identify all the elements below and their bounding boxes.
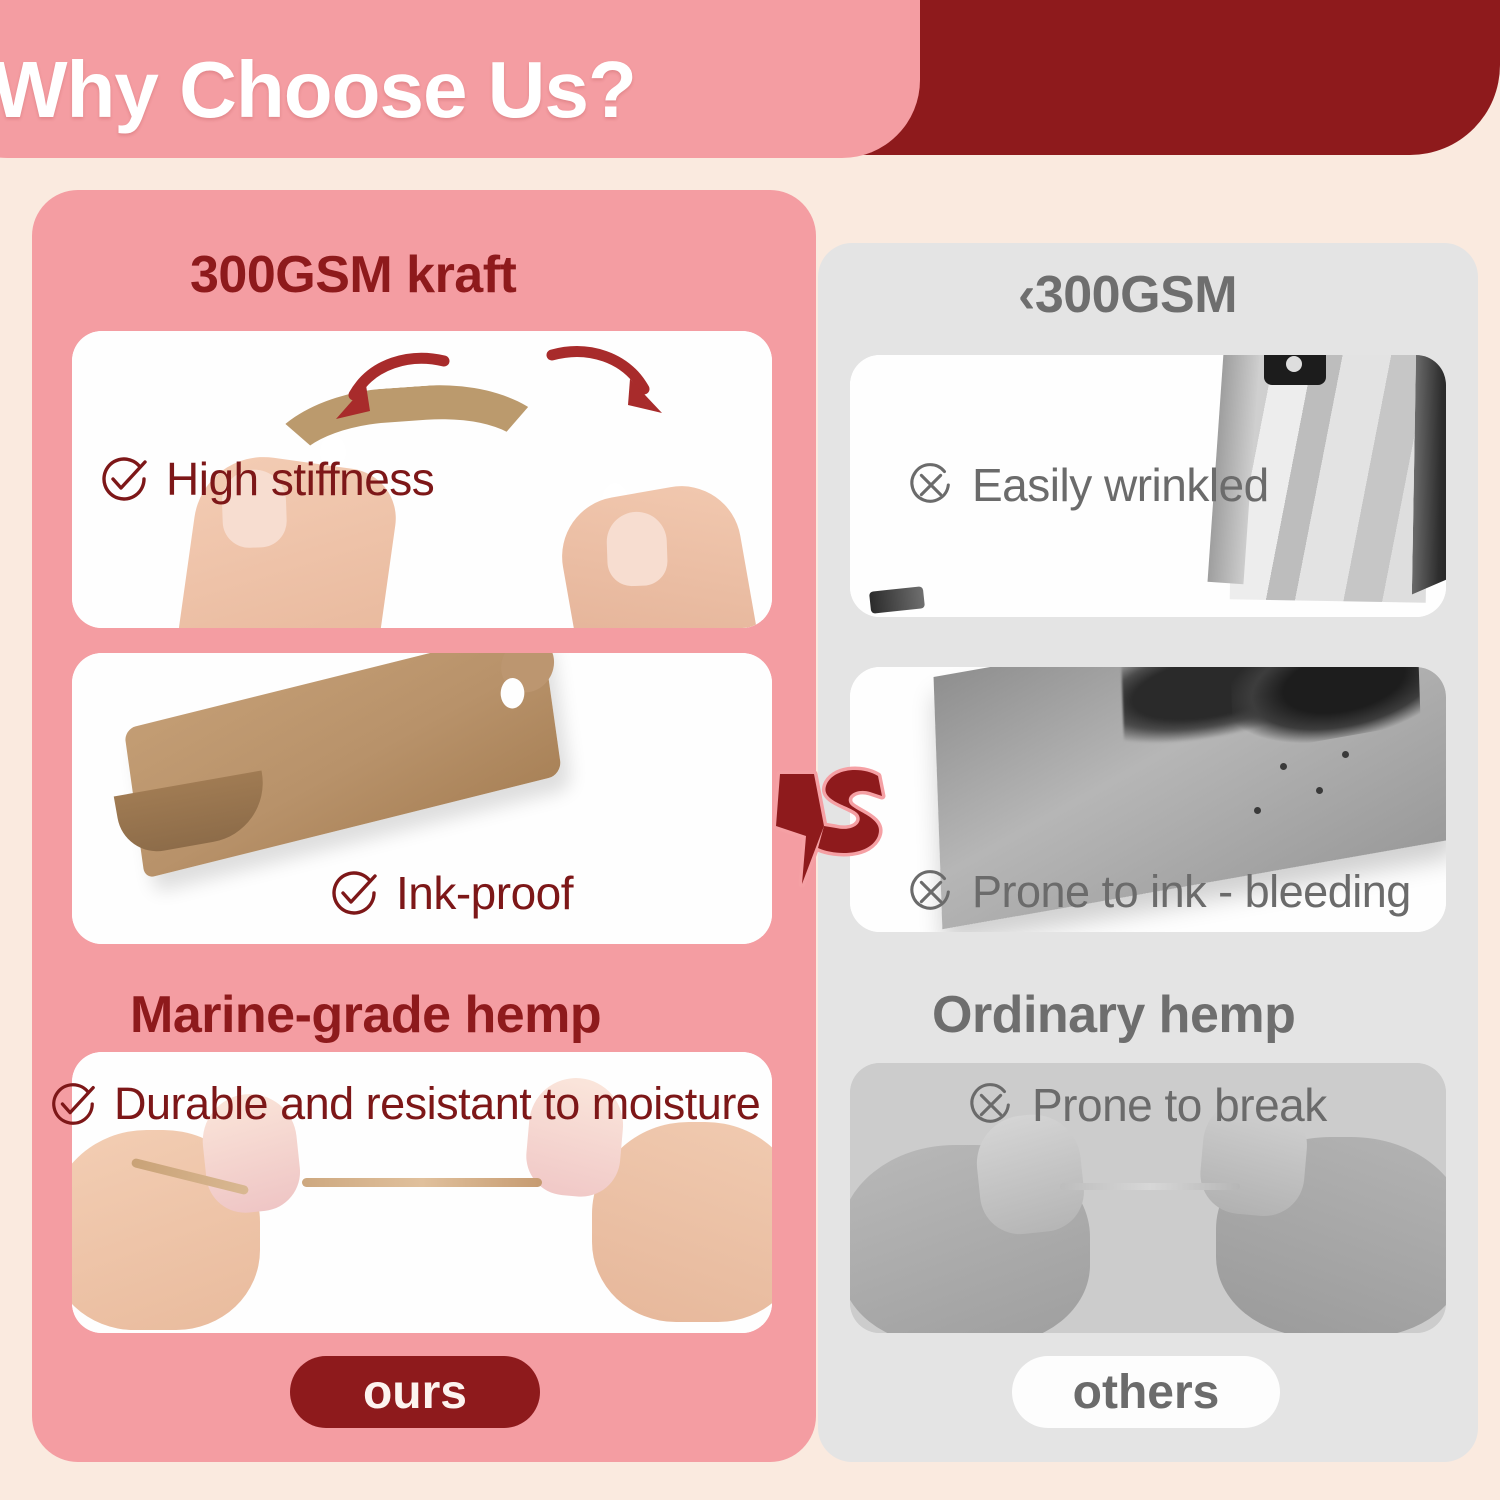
feature-high-stiffness: High stiffness (98, 452, 434, 506)
feature-ink-bleeding: Prone to ink - bleeding (906, 866, 1411, 918)
x-circle-icon (906, 867, 956, 917)
badge-ours: ours (290, 1356, 540, 1428)
feature-ink-proof: Ink-proof (328, 866, 573, 920)
infographic-root: Why Choose Us? 300GSM kraft (0, 0, 1500, 1500)
arrow-right-icon (544, 335, 674, 425)
arrow-left-icon (324, 345, 454, 435)
heading-marine-grade-hemp: Marine-grade hemp (130, 985, 601, 1045)
heading-300gsm-kraft: 300GSM kraft (190, 245, 516, 305)
feature-label: High stiffness (166, 452, 434, 506)
check-circle-icon (98, 453, 150, 505)
check-circle-icon (48, 1079, 98, 1129)
feature-label: Prone to ink - bleeding (972, 866, 1411, 918)
heading-ordinary-hemp: Ordinary hemp (932, 985, 1295, 1045)
page-title: Why Choose Us? (0, 44, 636, 158)
feature-durable-moisture: Durable and resistant to moisture (48, 1078, 760, 1130)
x-circle-icon (966, 1080, 1016, 1130)
feature-easily-wrinkled: Easily wrinkled (906, 458, 1269, 512)
feature-label: Ink-proof (396, 866, 573, 920)
vs-badge (766, 752, 896, 892)
feature-prone-to-break: Prone to break (966, 1078, 1327, 1132)
check-circle-icon (328, 867, 380, 919)
header-banner: Why Choose Us? (0, 0, 920, 158)
badge-others: others (1012, 1356, 1280, 1428)
x-circle-icon (906, 460, 956, 510)
heading-less-than-300gsm: ‹300GSM (1018, 265, 1237, 325)
feature-label: Durable and resistant to moisture (114, 1078, 760, 1130)
feature-label: Easily wrinkled (972, 458, 1269, 512)
feature-label: Prone to break (1032, 1078, 1327, 1132)
